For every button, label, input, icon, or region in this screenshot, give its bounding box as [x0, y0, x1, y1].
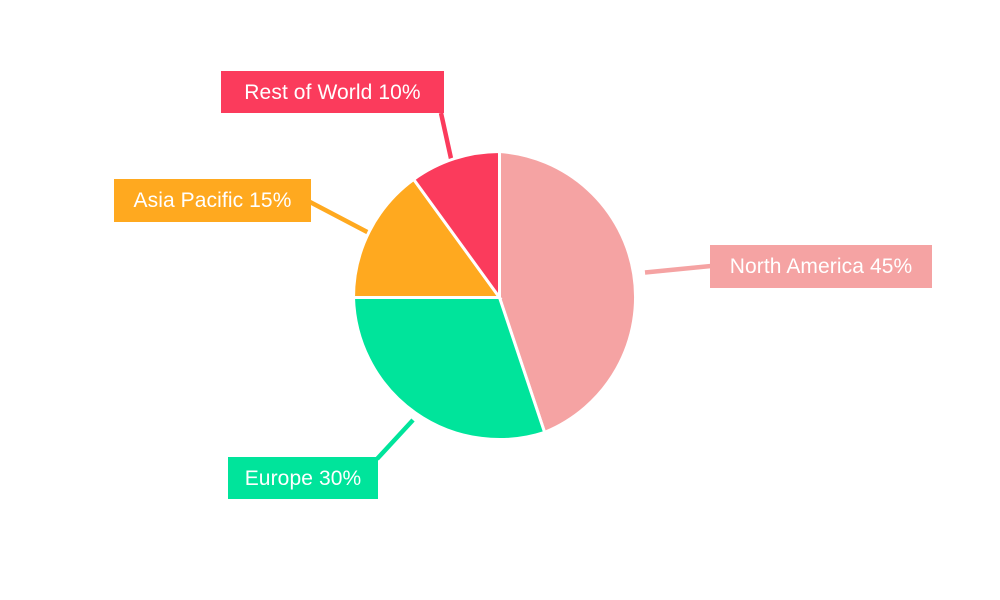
slice-label-europe-text: Europe 30% — [245, 468, 362, 489]
pie-chart-svg — [0, 0, 1000, 600]
slice-label-north-america[interactable]: North America 45% — [710, 245, 932, 288]
leader-line-north-america — [645, 266, 711, 273]
leader-line-rest-of-world — [441, 113, 452, 163]
slice-label-rest-of-world-text: Rest of World 10% — [244, 82, 420, 103]
slice-label-asia-pacific-text: Asia Pacific 15% — [133, 190, 291, 211]
slice-label-asia-pacific[interactable]: Asia Pacific 15% — [114, 179, 311, 222]
slice-label-north-america-text: North America 45% — [730, 256, 913, 277]
leader-line-europe — [377, 420, 413, 459]
leader-line-asia-pacific — [310, 202, 371, 234]
pie-chart-canvas: North America 45% Europe 30% Asia Pacifi… — [0, 0, 1000, 600]
slice-label-europe[interactable]: Europe 30% — [228, 457, 378, 499]
pie-slices — [354, 151, 636, 439]
slice-label-rest-of-world[interactable]: Rest of World 10% — [221, 71, 444, 113]
